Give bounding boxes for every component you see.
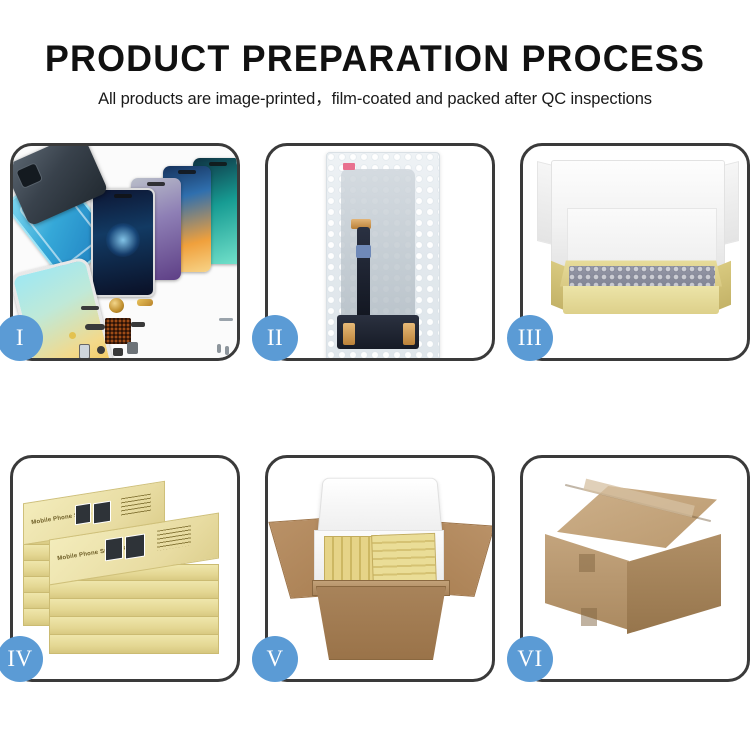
lcd-driver-chip [356,245,371,258]
process-step-panel-6 [520,455,750,682]
process-step-panel-3 [520,143,750,361]
bubble-wrap-bag [326,152,440,358]
camera-ring-part [109,298,124,313]
process-step-panel-1 [10,143,240,361]
screw-part-3 [225,346,229,355]
step-badge-6: VI [507,636,553,682]
small-component-2 [97,346,105,354]
process-step-panel-4: Mobile Phone Spare Parts Mobile Phone Sp… [10,455,240,682]
step-badge-3: III [507,315,553,361]
step-badge-2: II [252,315,298,361]
header: PRODUCT PREPARATION PROCESS All products… [0,0,750,109]
page-title: PRODUCT PREPARATION PROCESS [11,38,739,80]
small-component-5 [69,332,76,339]
carton-tab-2 [581,608,597,626]
page-subtitle: All products are image-printed，film-coat… [0,89,750,109]
panel-4-image: Mobile Phone Spare Parts Mobile Phone Sp… [13,458,237,679]
carton-body [316,586,446,660]
process-step-panel-2 [265,143,495,361]
process-step-panel-5 [265,455,495,682]
panel-6-image [523,458,747,679]
retail-boxes-in-foam-2 [371,533,437,587]
box-front-face [563,286,719,314]
foam-sheet [567,208,717,268]
step-badge-5: V [252,636,298,682]
lcd-tab-right [403,323,415,345]
lcd-tab-left [343,323,355,345]
lcd-flex-cable [357,227,370,323]
panel-1-image [13,146,237,358]
speaker-mesh-part [81,306,99,310]
small-component-1 [113,348,123,356]
screw-part-2 [217,344,221,353]
screw-part-1 [219,318,233,321]
panel-5-image [268,458,492,679]
copper-grid-part [105,318,131,344]
pink-label-mark [343,163,355,170]
flex-cable-part-3 [131,322,145,327]
carton-right-face [627,534,721,634]
small-component-4 [127,342,138,354]
phone-screen-dark [91,188,155,297]
flex-cable-part-2 [85,324,105,330]
flex-cable-part-1 [137,299,153,306]
carton-tab-1 [579,554,595,572]
panel-3-image [523,146,747,358]
small-component-3 [79,344,90,358]
panel-2-image [268,146,492,358]
